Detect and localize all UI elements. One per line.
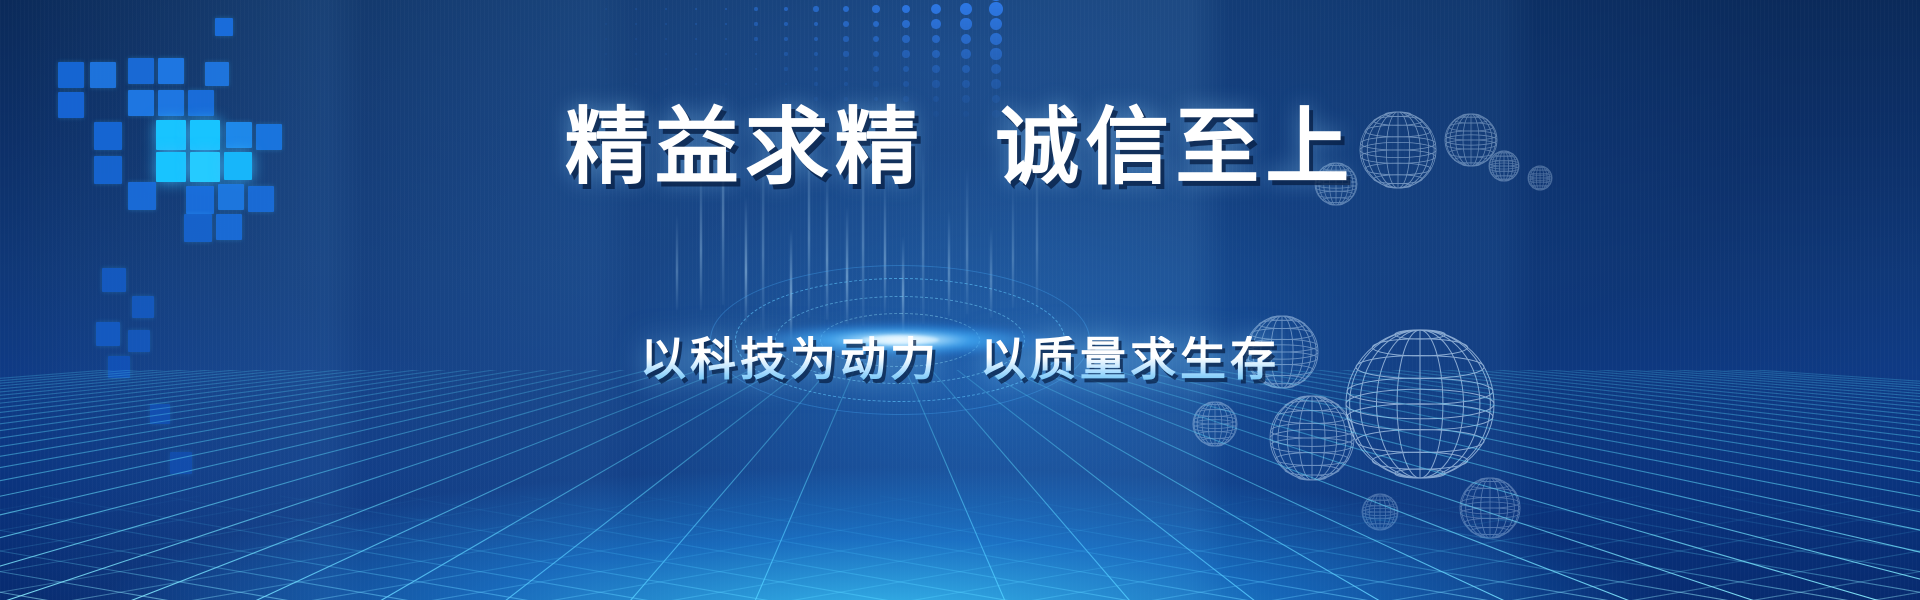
halftone-dot xyxy=(754,22,757,25)
halftone-dot xyxy=(635,38,637,40)
halftone-dot xyxy=(605,38,607,40)
halftone-dot xyxy=(902,20,910,28)
halftone-dot xyxy=(635,83,636,84)
halftone-dot xyxy=(931,19,941,29)
halftone-dot xyxy=(932,50,940,58)
halftone-dot xyxy=(784,67,787,70)
halftone-dot xyxy=(755,68,758,71)
halftone-dot xyxy=(725,68,727,70)
halftone-dot xyxy=(725,8,728,11)
mosaic-pixel xyxy=(215,18,233,36)
mosaic-pixel xyxy=(205,62,229,86)
halftone-dot xyxy=(873,81,878,86)
halftone-dot xyxy=(605,53,606,54)
halftone-dot xyxy=(989,0,1003,1)
halftone-dot xyxy=(665,68,667,70)
halftone-dot xyxy=(725,53,727,55)
halftone-dot xyxy=(843,6,849,12)
halftone-dot xyxy=(932,35,941,44)
halftone-dot xyxy=(605,23,607,25)
mosaic-pixel xyxy=(158,58,184,84)
halftone-dot xyxy=(960,3,972,15)
halftone-dot xyxy=(960,18,971,29)
halftone-dot xyxy=(932,80,939,87)
halftone-dot xyxy=(754,7,758,11)
halftone-dot xyxy=(814,37,819,42)
halftone-dot xyxy=(784,37,788,41)
halftone-dot xyxy=(873,66,879,72)
halftone-dot xyxy=(961,49,971,59)
halftone-dot xyxy=(814,22,819,27)
halftone-dot xyxy=(813,6,818,11)
halftone-dot xyxy=(843,21,849,27)
halftone-dot xyxy=(873,21,880,28)
halftone-dot xyxy=(635,23,637,25)
halftone-dot xyxy=(784,7,788,11)
halftone-dot xyxy=(903,81,909,87)
hero-banner: 精益求精 诚信至上 以科技为动力 以质量求生存 xyxy=(0,0,1920,600)
light-rod xyxy=(676,214,678,310)
mosaic-pixel xyxy=(58,62,84,88)
halftone-dot xyxy=(755,83,757,85)
halftone-dot xyxy=(843,36,848,41)
perspective-grid xyxy=(0,370,1920,600)
halftone-dot xyxy=(872,5,879,12)
halftone-dot xyxy=(902,35,910,43)
halftone-dot xyxy=(605,83,606,84)
halftone-dot xyxy=(695,83,697,85)
halftone-dot xyxy=(605,68,606,69)
mosaic-pixel xyxy=(128,58,154,84)
halftone-dot xyxy=(725,23,728,26)
halftone-dot xyxy=(990,18,1003,31)
halftone-dot xyxy=(665,23,667,25)
halftone-dot xyxy=(785,83,788,86)
halftone-dot xyxy=(873,36,879,42)
halftone-dot xyxy=(665,38,667,40)
halftone-dot xyxy=(725,83,727,85)
mosaic-pixel xyxy=(184,214,212,242)
halftone-dot xyxy=(665,8,667,10)
halftone-dot xyxy=(962,80,970,88)
mosaic-pixel xyxy=(248,186,274,212)
halftone-dot xyxy=(991,64,1001,74)
halftone-dot xyxy=(665,83,666,84)
halftone-dot xyxy=(844,82,848,86)
mosaic-pixel xyxy=(216,214,242,240)
halftone-dot xyxy=(931,4,941,14)
halftone-dot xyxy=(989,2,1003,16)
halftone-dot xyxy=(635,8,637,10)
mosaic-pixel xyxy=(132,296,154,318)
halftone-dot xyxy=(962,65,971,74)
halftone-dot xyxy=(605,8,607,10)
halftone-dot xyxy=(991,79,1000,88)
halftone-dot xyxy=(695,23,697,25)
halftone-dot xyxy=(784,52,787,55)
mosaic-pixel xyxy=(90,62,116,88)
halftone-dot xyxy=(902,50,909,57)
mosaic-pixel xyxy=(102,268,126,292)
halftone-dot xyxy=(932,65,940,73)
halftone-dot xyxy=(695,38,697,40)
halftone-dot xyxy=(755,53,758,56)
halftone-dot xyxy=(873,51,879,57)
halftone-dot xyxy=(843,51,848,56)
halftone-dot xyxy=(814,82,818,86)
halftone-dot xyxy=(902,5,911,14)
halftone-dot xyxy=(903,66,910,73)
mosaic-pixel xyxy=(186,186,214,214)
halftone-dot xyxy=(814,67,818,71)
halftone-dot xyxy=(695,68,697,70)
halftone-dot xyxy=(784,22,788,26)
halftone-dot xyxy=(844,67,849,72)
halftone-dot xyxy=(635,68,636,69)
page-title: 精益求精 诚信至上 xyxy=(0,105,1920,189)
halftone-dot xyxy=(635,53,636,54)
halftone-dot xyxy=(990,33,1002,45)
halftone-dot xyxy=(990,48,1001,59)
halftone-dot xyxy=(754,37,757,40)
grid-haze xyxy=(0,370,1920,600)
halftone-dot xyxy=(961,34,971,44)
halftone-dot xyxy=(725,38,728,41)
halftone-dot xyxy=(665,53,667,55)
halftone-dot xyxy=(695,8,697,10)
page-subtitle: 以科技为动力 以质量求生存 xyxy=(0,336,1920,382)
halftone-dot xyxy=(695,53,697,55)
halftone-dot xyxy=(814,52,818,56)
